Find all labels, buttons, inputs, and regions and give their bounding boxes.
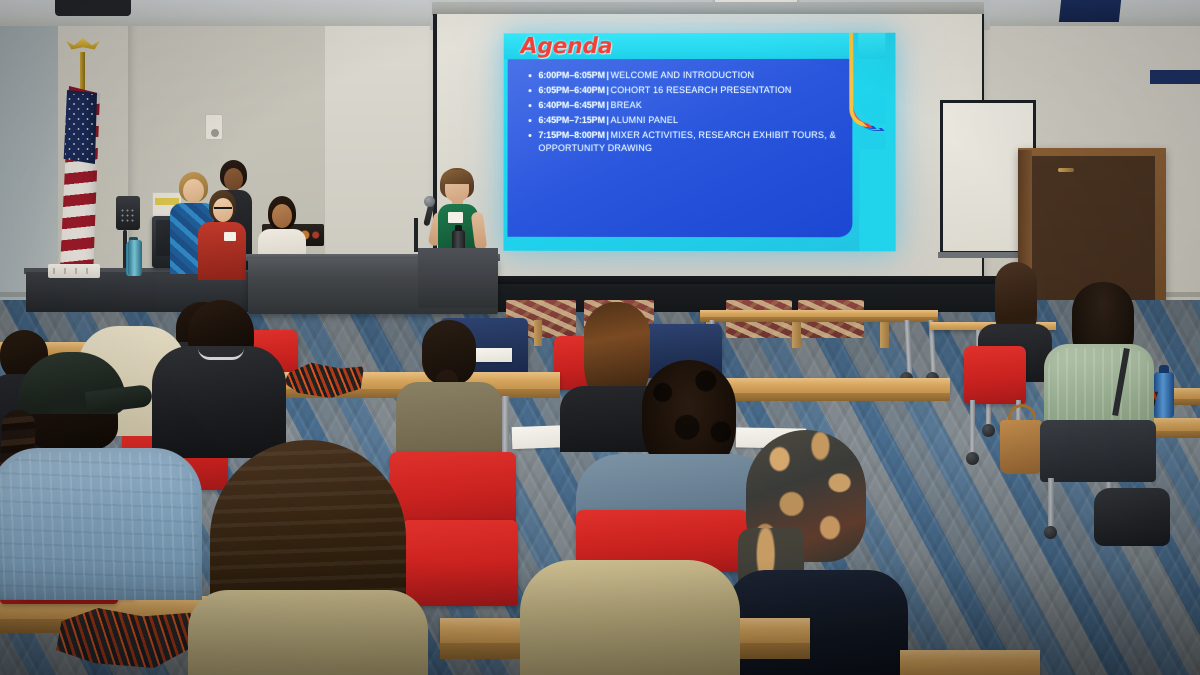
torso	[520, 560, 740, 675]
table-front-right	[900, 650, 1040, 675]
ottoman-leg	[880, 318, 889, 348]
ottoman-leg	[534, 320, 542, 346]
microphone-head[interactable]	[424, 196, 435, 207]
agenda-item: 6:45PM–7:15PM|ALUMNI PANEL	[527, 114, 845, 127]
chair-dark-right[interactable]	[1040, 420, 1156, 482]
slide-title: Agenda	[521, 34, 613, 59]
agenda-item-time: 6:05PM–6:40PM	[538, 85, 604, 95]
black-backpack[interactable]	[1094, 488, 1170, 546]
face	[272, 204, 292, 228]
agenda-slide: Agenda 6:00PM–6:05PM|WELCOME AND INTRODU…	[503, 33, 895, 252]
agenda-item-description: ALUMNI PANEL	[611, 115, 679, 125]
eyeglasses-icon	[214, 207, 232, 211]
ottoman-leg	[792, 318, 801, 348]
left-wall-recess	[0, 0, 60, 300]
agenda-item-description: COHORT 16 RESEARCH PRESENTATION	[611, 85, 792, 95]
agenda-item-time: 6:45PM–7:15PM	[538, 115, 604, 125]
name-badge	[224, 232, 236, 241]
agenda-item: 6:00PM–6:05PM|WELCOME AND INTRODUCTION	[528, 69, 846, 82]
audience-member-foreground-long-hair	[188, 440, 428, 675]
microphone-stand	[414, 218, 418, 252]
face	[224, 168, 243, 191]
audience-member-tan-jacket	[520, 560, 740, 675]
table-caster	[982, 424, 995, 437]
chair-red[interactable]	[964, 346, 1026, 404]
presenter-name-badge	[448, 212, 463, 223]
flag-stars	[65, 94, 95, 160]
folding-table-edge	[700, 317, 938, 322]
wall-thermostat-plate[interactable]	[205, 114, 223, 140]
chair-leg	[1048, 478, 1054, 530]
cabinet-handle[interactable]	[1058, 168, 1074, 172]
chair-leg	[970, 400, 975, 456]
slide-content-panel: 6:00PM–6:05PM|WELCOME AND INTRODUCTION6:…	[507, 59, 852, 237]
panelist-red-top	[198, 190, 246, 280]
blue-wall-trim-secondary	[1150, 70, 1200, 84]
blue-wall-trim	[1059, 0, 1121, 22]
power-strip[interactable]	[48, 264, 100, 278]
denim-texture	[0, 452, 198, 600]
podium	[418, 248, 498, 308]
tan-handbag[interactable]	[1000, 420, 1042, 474]
agenda-item: 7:15PM–8:00PM|MIXER ACTIVITIES, RESEARCH…	[527, 129, 845, 154]
slide-right-cyan-strip	[885, 33, 895, 252]
sticker-water-bottle[interactable]	[128, 240, 142, 276]
chair-caster	[966, 452, 979, 465]
agenda-item-time: 6:40PM–6:45PM	[538, 100, 604, 110]
torso	[188, 590, 428, 675]
slide-corner-arcs-decoration	[835, 33, 896, 252]
phone-keypad[interactable]	[120, 208, 136, 224]
agenda-item-description: BREAK	[611, 100, 642, 110]
flag-pole	[80, 52, 85, 92]
agenda-item-description: WELCOME AND INTRODUCTION	[611, 70, 755, 80]
torso	[198, 222, 246, 280]
agenda-item-time: 7:15PM–8:00PM	[538, 130, 604, 140]
chair-caster	[1044, 526, 1057, 539]
audience-member-olive	[396, 320, 502, 460]
shirt-collar	[198, 348, 244, 360]
agenda-item-time: 6:00PM–6:05PM	[538, 70, 604, 80]
audience-member-denim-braid	[0, 352, 202, 600]
slide-arc-ribbon	[849, 33, 867, 128]
photo-scene: Agenda 6:00PM–6:05PM|WELCOME AND INTRODU…	[0, 0, 1200, 675]
agenda-item: 6:05PM–6:40PM|COHORT 16 RESEARCH PRESENT…	[528, 84, 846, 97]
presenter-hair-front	[441, 170, 473, 184]
agenda-item: 6:40PM–6:45PM|BREAK	[528, 99, 846, 112]
slide-lower-cyan-block	[859, 149, 885, 251]
wall-mounted-display	[55, 0, 131, 16]
agenda-list: 6:00PM–6:05PM|WELCOME AND INTRODUCTION6:…	[527, 69, 845, 157]
